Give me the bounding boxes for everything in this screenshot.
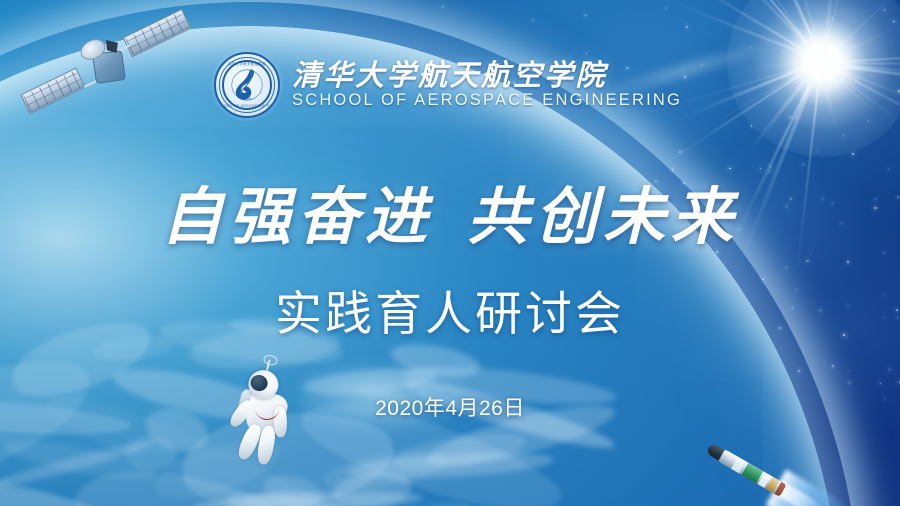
tsinghua-aerospace-seal-icon: 清华大学航天航空学院 SCHOOL OF AEROSPACE ENGINEERI… (214, 52, 280, 118)
earth-horizon-glow (300, 352, 560, 502)
school-name-cn: 清华大学航天航空学院 (292, 61, 682, 91)
school-logo-lockup: 清华大学航天航空学院 SCHOOL OF AEROSPACE ENGINEERI… (214, 52, 682, 118)
slogan-part-1: 自强奋进 (161, 180, 433, 253)
satellite-solar-panel-right (123, 9, 192, 58)
school-name-en: SCHOOL OF AEROSPACE ENGINEERING (292, 91, 682, 109)
satellite-icon (18, 8, 193, 128)
rocket-body (716, 448, 787, 497)
slogan-headline: 自强奋进共创未来 (0, 186, 900, 248)
event-subtitle: 实践育人研讨会 (0, 290, 900, 337)
title-slide: 清华大学航天航空学院 SCHOOL OF AEROSPACE ENGINEERI… (0, 0, 900, 506)
event-date: 2020年4月26日 (0, 392, 900, 422)
satellite-solar-panel-left (20, 68, 85, 115)
school-wordmark: 清华大学航天航空学院 SCHOOL OF AEROSPACE ENGINEERI… (292, 61, 682, 110)
seal-year-text: 2004 (216, 97, 278, 101)
seal-micro-text-bottom: SCHOOL OF AEROSPACE ENGINEERING (216, 104, 278, 108)
slogan-part-2: 共创未来 (467, 180, 739, 253)
